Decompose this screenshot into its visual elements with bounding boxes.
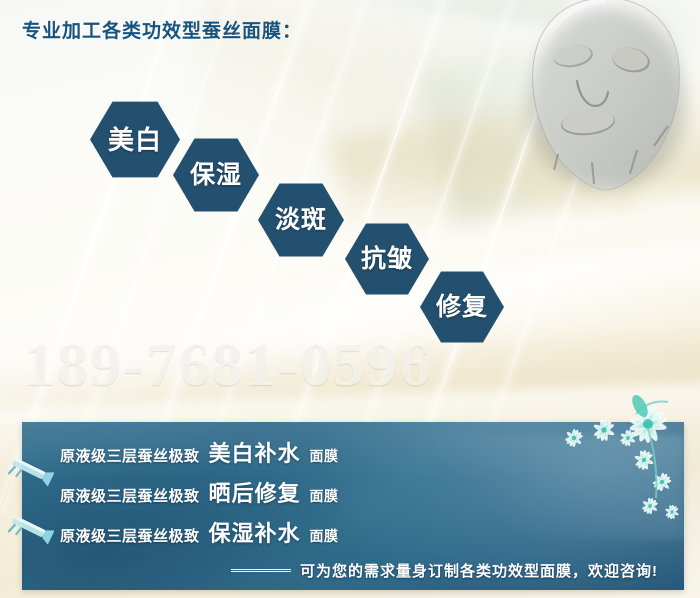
product-highlight: 保湿补水 bbox=[209, 516, 301, 548]
benefit-badge-label: 修复 bbox=[436, 295, 488, 320]
product-row[interactable]: 原液级三层蚕丝极致保湿补水面膜 bbox=[60, 516, 339, 556]
poster-canvas: 专业加工各类功效型蚕丝面膜： 美白保湿淡斑抗皱修复 189-7681-0596 … bbox=[0, 0, 700, 598]
benefit-badge-label: 美白 bbox=[108, 127, 162, 153]
product-prefix: 原液级三层蚕丝极致 bbox=[60, 445, 200, 466]
product-suffix: 面膜 bbox=[310, 526, 339, 546]
product-suffix: 面膜 bbox=[310, 486, 339, 506]
tagline-dash-icon bbox=[231, 569, 291, 572]
benefit-badge-label: 保湿 bbox=[190, 163, 242, 188]
sheet-mask-photo bbox=[518, 0, 694, 194]
banner-tagline: 可为您的需求量身订制各类功效型面膜，欢迎咨询! bbox=[231, 560, 658, 581]
product-banner: 原液级三层蚕丝极致美白补水面膜原液级三层蚕丝极致晒后修复面膜原液级三层蚕丝极致保… bbox=[22, 422, 684, 590]
product-highlight: 晒后修复 bbox=[209, 476, 301, 508]
product-prefix: 原液级三层蚕丝极致 bbox=[60, 525, 200, 546]
product-prefix: 原液级三层蚕丝极致 bbox=[60, 485, 200, 506]
product-highlight: 美白补水 bbox=[209, 436, 301, 468]
banner-sheen bbox=[379, 435, 684, 539]
product-row[interactable]: 原液级三层蚕丝极致美白补水面膜 bbox=[60, 436, 339, 476]
product-list: 原液级三层蚕丝极致美白补水面膜原液级三层蚕丝极致晒后修复面膜原液级三层蚕丝极致保… bbox=[60, 436, 339, 556]
product-row[interactable]: 原液级三层蚕丝极致晒后修复面膜 bbox=[60, 476, 339, 516]
product-suffix: 面膜 bbox=[310, 446, 339, 466]
tagline-text: 可为您的需求量身订制各类功效型面膜，欢迎咨询! bbox=[300, 560, 658, 581]
benefit-badge-label: 抗皱 bbox=[361, 247, 413, 272]
benefit-badge-label: 淡斑 bbox=[275, 208, 327, 233]
page-title: 专业加工各类功效型蚕丝面膜： bbox=[22, 16, 302, 43]
